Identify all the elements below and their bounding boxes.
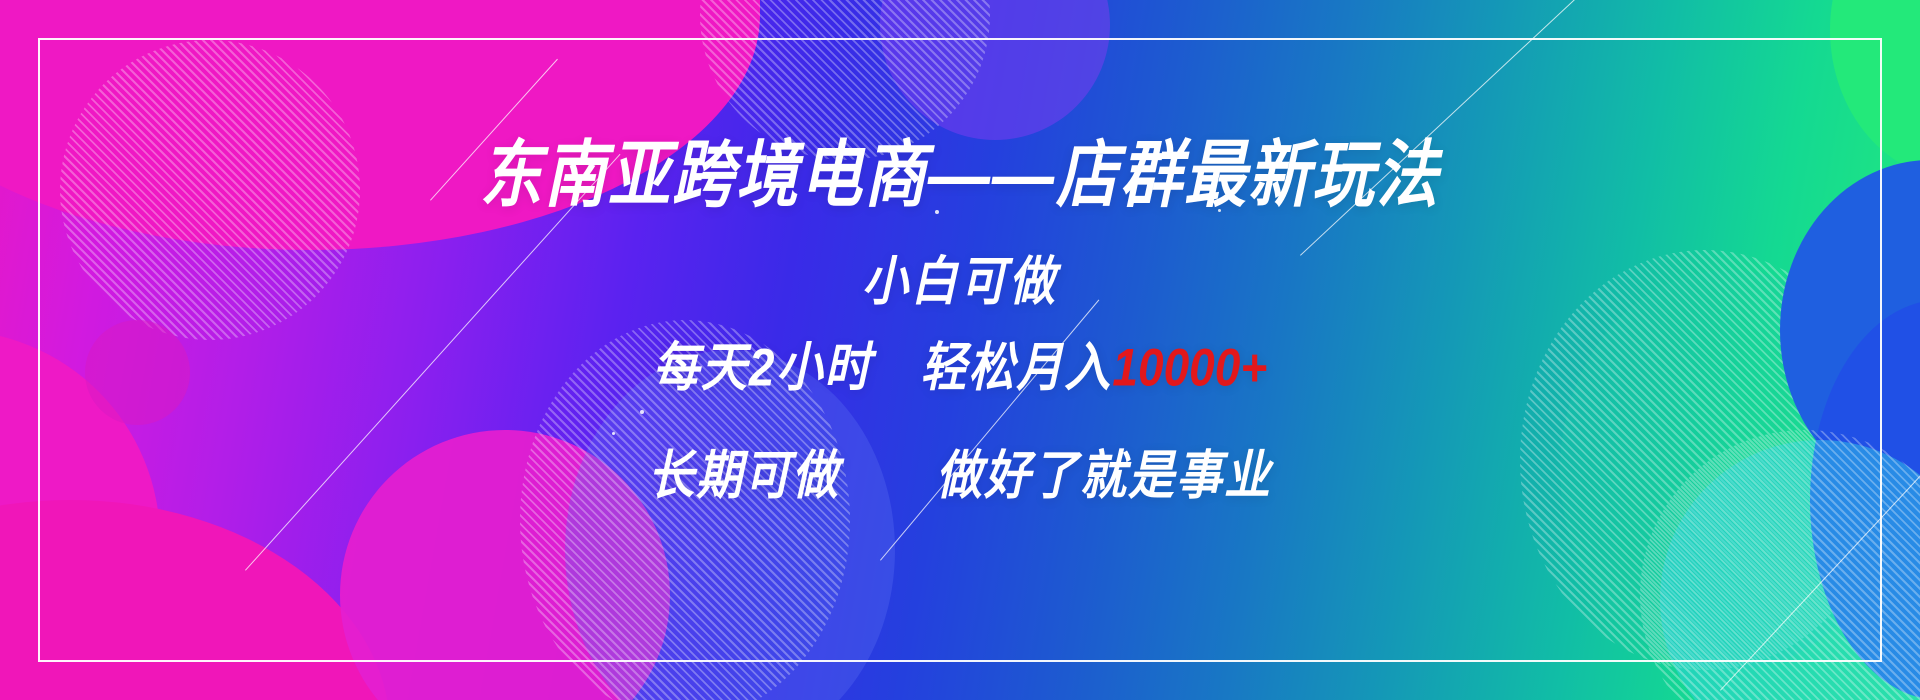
income-prefix-text: 每天2小时 轻松月入	[653, 337, 1113, 397]
banner-subtitle-income: 每天2小时 轻松月入10000+	[653, 341, 1267, 394]
promo-banner: 东南亚跨境电商——店群最新玩法 小白可做 每天2小时 轻松月入10000+ 长期…	[0, 0, 1920, 700]
income-amount-text: 10000+	[1112, 337, 1267, 397]
banner-subtitle-longevity: 长期可做 做好了就是事业	[648, 449, 1272, 502]
banner-subtitle-audience: 小白可做	[862, 255, 1058, 308]
banner-text-block: 东南亚跨境电商——店群最新玩法 小白可做 每天2小时 轻松月入10000+ 长期…	[0, 0, 1920, 700]
banner-title: 东南亚跨境电商——店群最新玩法	[480, 140, 1440, 213]
